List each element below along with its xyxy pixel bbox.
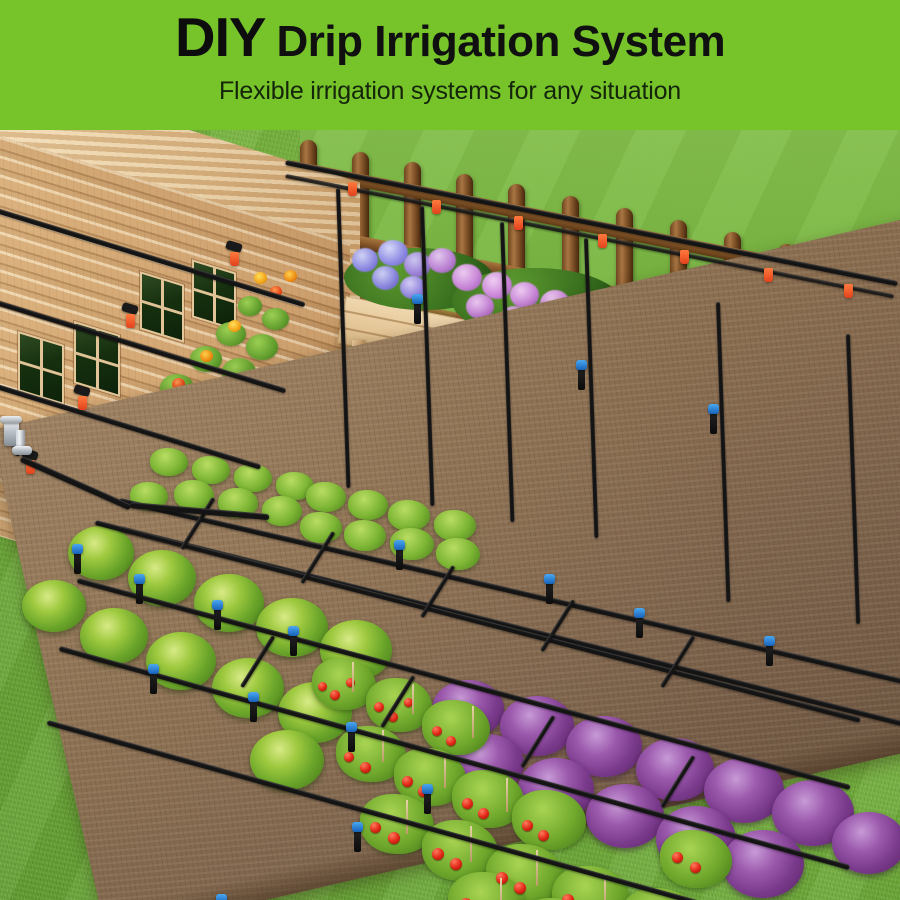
wall-emitter-orange bbox=[78, 396, 87, 410]
tomato-fruit bbox=[450, 858, 462, 870]
tomato-fruit bbox=[330, 690, 340, 700]
plant-stake bbox=[472, 706, 474, 738]
header-banner: DIY Drip Irrigation System Flexible irri… bbox=[0, 0, 900, 130]
fence-emitter-orange bbox=[598, 234, 607, 248]
drip-stake-blue bbox=[636, 616, 643, 638]
plant-stake bbox=[412, 684, 414, 714]
fence-emitter-orange bbox=[514, 216, 523, 230]
nasturtium-flower-orange bbox=[200, 350, 213, 362]
nasturtium-leaf bbox=[246, 334, 278, 360]
tomato-fruit bbox=[522, 820, 533, 831]
fence-emitter-orange bbox=[764, 268, 773, 282]
tomato-fruit bbox=[672, 852, 683, 863]
drip-stake-blue bbox=[214, 608, 221, 630]
tomato-fruit bbox=[514, 882, 526, 894]
red-cabbage-head bbox=[586, 784, 664, 848]
leafy-green-plant bbox=[434, 510, 476, 541]
tomato-fruit bbox=[478, 808, 489, 819]
hydrangea-blue bbox=[372, 266, 399, 290]
drip-stake-blue bbox=[150, 672, 157, 694]
faucet-handle[interactable] bbox=[0, 416, 22, 423]
drip-stake-blue bbox=[396, 548, 403, 570]
tomato-fruit bbox=[370, 822, 381, 833]
tomato-fruit bbox=[388, 832, 400, 844]
drip-stake-blue bbox=[766, 644, 773, 666]
wall-emitter-orange bbox=[230, 252, 239, 266]
nasturtium-flower-yellow bbox=[254, 272, 267, 284]
tomato-plant bbox=[512, 790, 586, 850]
tomato-fruit bbox=[462, 798, 473, 809]
leafy-green-plant bbox=[262, 496, 302, 526]
title-emphasis: DIY bbox=[175, 10, 265, 65]
tomato-fruit bbox=[496, 872, 508, 884]
drip-stake-blue bbox=[578, 368, 585, 390]
tomato-fruit bbox=[432, 726, 442, 736]
tomato-plant bbox=[660, 830, 732, 888]
tomato-fruit bbox=[360, 762, 371, 773]
hydrangea-pink bbox=[452, 264, 482, 291]
page-title: DIY Drip Irrigation System bbox=[175, 10, 725, 65]
tomato-fruit bbox=[446, 736, 456, 746]
plant-stake bbox=[444, 754, 446, 788]
drip-stake-blue bbox=[710, 412, 717, 434]
plant-stake bbox=[506, 778, 508, 812]
tomato-fruit bbox=[318, 682, 327, 691]
fence-emitter-orange bbox=[844, 284, 853, 298]
tomato-fruit bbox=[432, 848, 444, 860]
leafy-green-plant bbox=[300, 512, 342, 543]
leafy-green-plant bbox=[436, 538, 480, 570]
fence-emitter-orange bbox=[348, 182, 357, 196]
tomato-fruit bbox=[374, 702, 384, 712]
nasturtium-leaf bbox=[238, 296, 262, 316]
leafy-green-plant bbox=[150, 448, 188, 476]
tomato-fruit bbox=[344, 752, 354, 762]
plant-stake bbox=[500, 878, 502, 900]
lettuce-head bbox=[22, 580, 86, 632]
tomato-fruit bbox=[690, 862, 701, 873]
title-rest: Drip Irrigation System bbox=[277, 20, 726, 64]
drip-stake-blue bbox=[250, 700, 257, 722]
fence-emitter-orange bbox=[680, 250, 689, 264]
hydrangea-blue bbox=[352, 248, 378, 272]
drip-stake-blue bbox=[414, 302, 421, 324]
plant-stake bbox=[470, 826, 472, 862]
leafy-green-plant bbox=[388, 500, 430, 531]
drip-stake-blue bbox=[136, 582, 143, 604]
garden-scene-image bbox=[0, 130, 900, 900]
tomato-fruit bbox=[562, 894, 574, 900]
fence-emitter-orange bbox=[432, 200, 441, 214]
leafy-green-plant bbox=[344, 520, 386, 551]
wall-emitter-orange bbox=[126, 314, 135, 328]
nasturtium-flower-yellow bbox=[228, 320, 241, 332]
product-infographic: DIY Drip Irrigation System Flexible irri… bbox=[0, 0, 900, 900]
hydrangea-pink bbox=[428, 248, 456, 273]
plant-stake bbox=[352, 662, 354, 692]
tomato-fruit bbox=[538, 830, 549, 841]
nasturtium-leaf bbox=[262, 308, 289, 330]
tomato-fruit bbox=[402, 776, 413, 787]
leafy-green-plant bbox=[348, 490, 388, 520]
leafy-green-plant bbox=[306, 482, 346, 512]
drip-stake-blue bbox=[74, 552, 81, 574]
drip-stake-blue bbox=[424, 792, 431, 814]
nasturtium-flower-orange bbox=[284, 270, 297, 282]
drip-stake-blue bbox=[546, 582, 553, 604]
plant-stake bbox=[406, 800, 408, 834]
hydrangea-violet bbox=[404, 252, 431, 277]
drip-stake-blue bbox=[348, 730, 355, 752]
page-subtitle: Flexible irrigation systems for any situ… bbox=[219, 77, 681, 106]
drip-stake-blue bbox=[354, 830, 361, 852]
faucet-adapter bbox=[12, 446, 32, 455]
drip-stake-blue bbox=[290, 634, 297, 656]
